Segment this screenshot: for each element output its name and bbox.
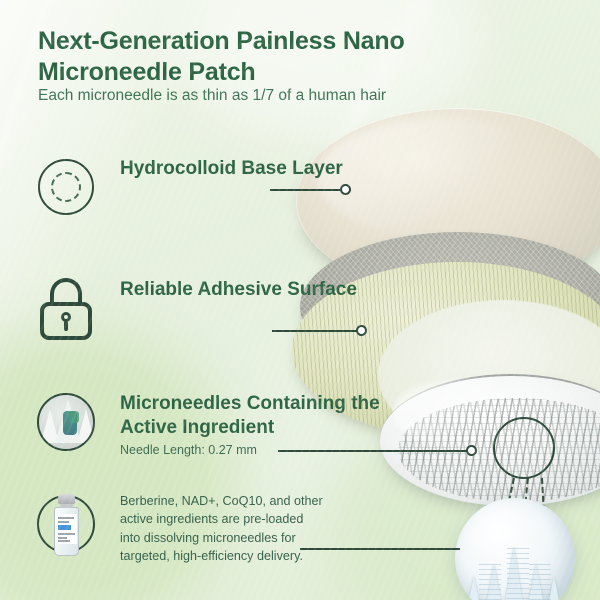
magnifier-ring-icon (493, 417, 555, 479)
padlock-icon-keyhole-stem (64, 321, 68, 331)
feature-heading-microneedles: Microneedles Containing the Active Ingre… (120, 392, 420, 439)
dashed-circle-icon-inner (51, 172, 81, 202)
vial-photo-icon (34, 492, 98, 556)
vial-label (56, 514, 77, 544)
infographic-canvas: Next-Generation Painless Nano Microneedl… (0, 0, 600, 600)
vial-cap (58, 494, 75, 504)
ingredients-description: Berberine, NAD+, CoQ10, and other active… (120, 492, 325, 565)
dashed-circle-icon (34, 155, 98, 219)
leader-dot-hydrocolloid (340, 184, 351, 195)
vial-illustration (54, 494, 79, 556)
microneedle-closeup-bubble (455, 498, 575, 600)
leader-line-hydrocolloid (270, 189, 342, 191)
leader-line-adhesive (272, 330, 358, 332)
feature-heading-adhesive: Reliable Adhesive Surface (120, 278, 420, 302)
page-subtitle: Each microneedle is as thin as 1/7 of a … (38, 86, 478, 106)
microneedle-photo-icon-frame (37, 393, 95, 451)
leader-dot-microneedles (466, 445, 477, 456)
needle-length-label: Needle Length: 0.27 mm (120, 443, 420, 457)
padlock-icon (34, 276, 98, 340)
microneedle-photo-icon (34, 390, 98, 454)
page-title: Next-Generation Painless Nano Microneedl… (38, 26, 458, 87)
leader-dot-adhesive (356, 325, 367, 336)
feature-heading-hydrocolloid: Hydrocolloid Base Layer (120, 157, 420, 181)
